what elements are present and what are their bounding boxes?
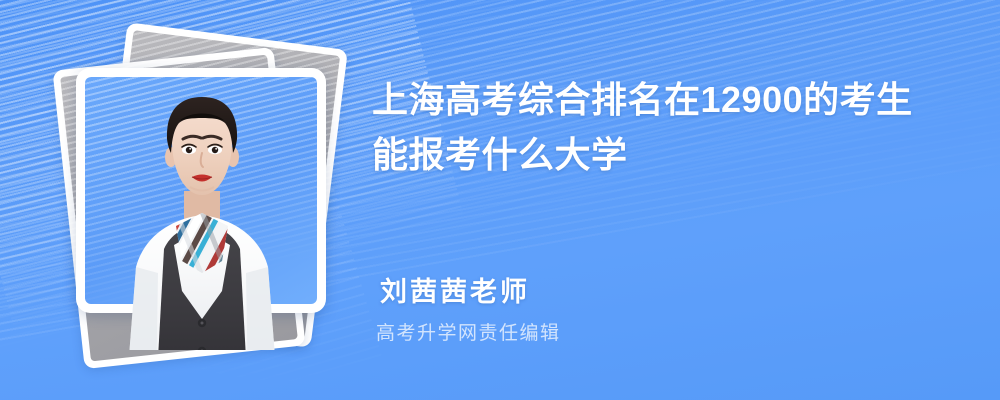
portrait-clip	[85, 77, 317, 350]
page-title-line-2: 能报考什么大学	[372, 127, 972, 182]
page-title: 上海高考综合排名在12900的考生 能报考什么大学	[372, 72, 972, 182]
article-cover-banner: 上海高考综合排名在12900的考生 能报考什么大学 刘茜茜老师 高考升学网责任编…	[0, 0, 1000, 400]
portrait-photo-frame	[76, 68, 326, 313]
avatar-portrait	[104, 95, 300, 350]
photo-card-stack	[40, 30, 360, 370]
author-name: 刘茜茜老师	[380, 270, 530, 309]
portrait-photo-window	[85, 77, 317, 304]
cover-text-block: 上海高考综合排名在12900的考生 能报考什么大学 刘茜茜老师 高考升学网责任编…	[372, 0, 988, 400]
page-title-line-1: 上海高考综合排名在12900的考生	[372, 72, 972, 127]
author-role: 高考升学网责任编辑	[376, 318, 561, 345]
